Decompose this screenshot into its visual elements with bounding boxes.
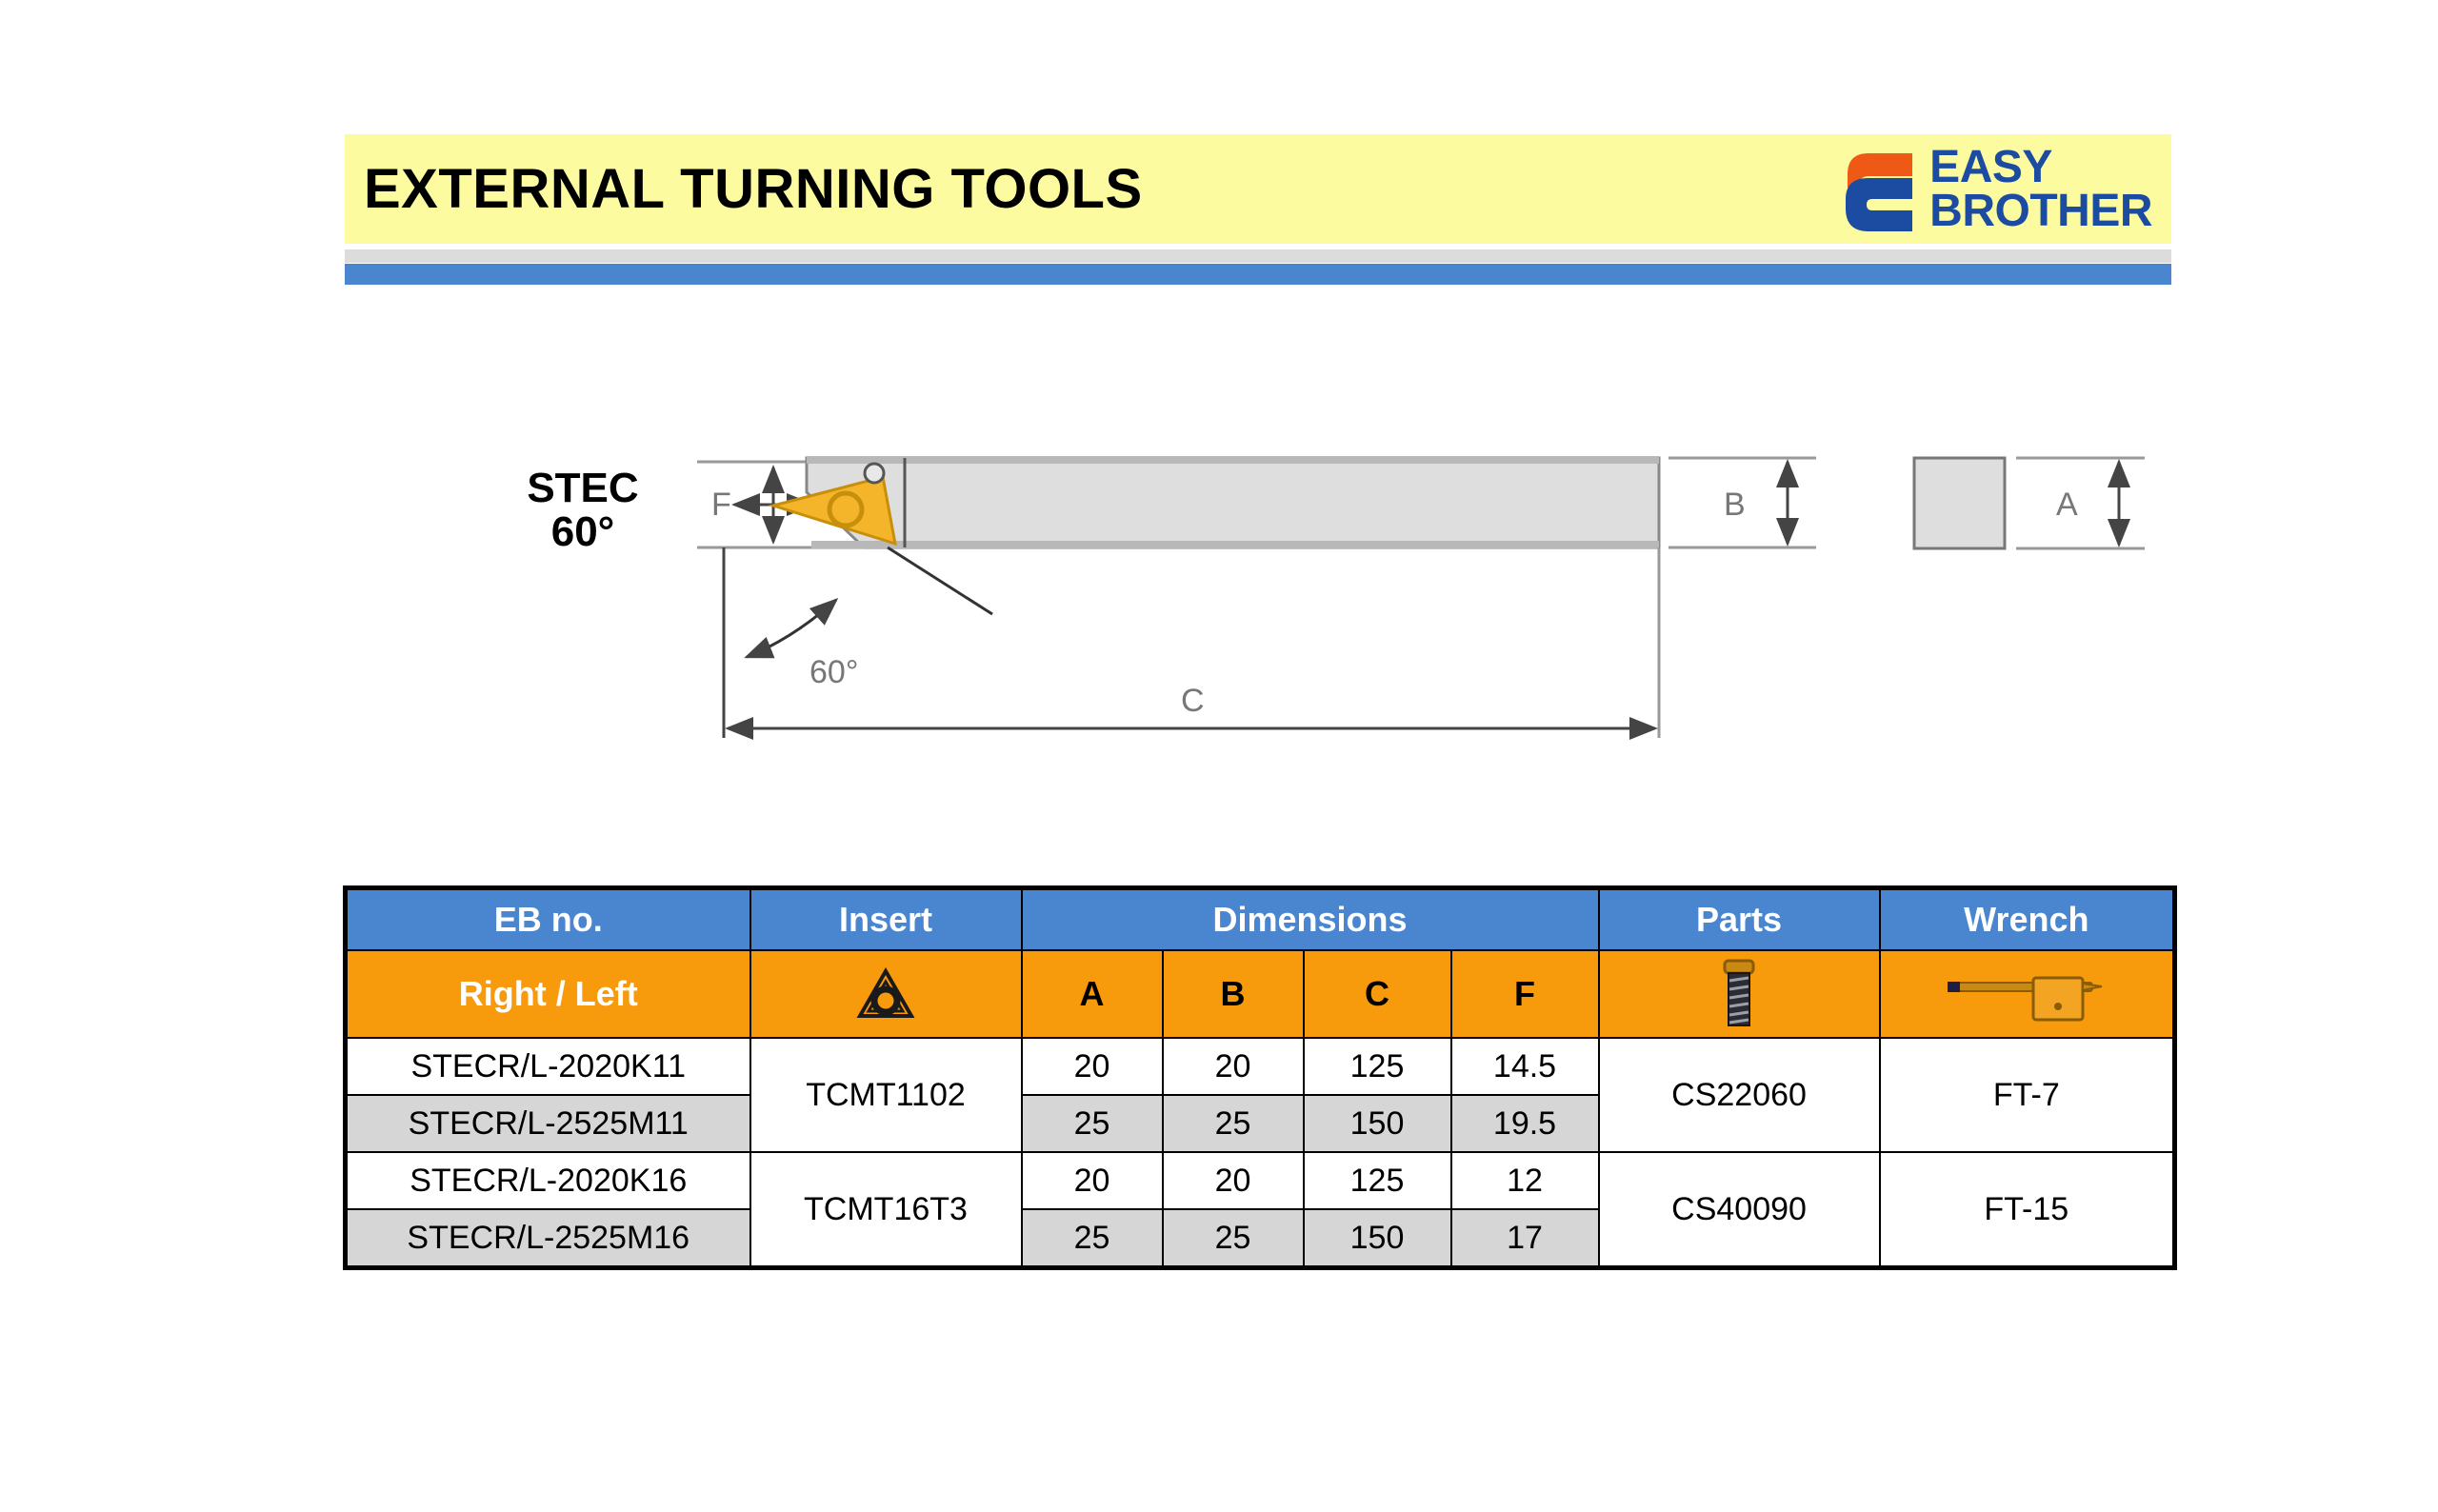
cell-insert: TCMT1102 — [750, 1038, 1022, 1152]
cell-dim-f: 19.5 — [1451, 1095, 1599, 1152]
cell-dim-f: 12 — [1451, 1152, 1599, 1209]
page-title: EXTERNAL TURNING TOOLS — [364, 157, 1143, 221]
header-rule-blue — [345, 264, 2171, 285]
cell-dim-c: 125 — [1304, 1152, 1451, 1209]
cell-eb-no: STECR/L-2525M16 — [346, 1209, 750, 1268]
cell-dim-f: 17 — [1451, 1209, 1599, 1268]
cell-part: CS22060 — [1599, 1038, 1880, 1152]
subheader-dim-a: A — [1022, 950, 1163, 1038]
cell-dim-c: 150 — [1304, 1095, 1451, 1152]
cell-dim-b: 25 — [1163, 1095, 1304, 1152]
tool-technical-drawing: F 60° C B A — [659, 433, 2173, 766]
subheader-parts-icon-cell — [1599, 950, 1880, 1038]
logo-wordmark: EASY BROTHER — [1929, 146, 2152, 231]
tool-diagram: STEC 60° F 60° — [345, 433, 2173, 766]
cell-eb-no: STECR/L-2525M11 — [346, 1095, 750, 1152]
product-specification-table: EB no. Insert Dimensions Parts Wrench Ri… — [343, 885, 2177, 1270]
subheader-dim-f: F — [1451, 950, 1599, 1038]
header-insert: Insert — [750, 888, 1022, 951]
dim-label-f: F — [711, 487, 731, 523]
page-header-band: EXTERNAL TURNING TOOLS EASY BROTHER — [345, 134, 2171, 244]
cell-dim-b: 20 — [1163, 1038, 1304, 1095]
header-wrench: Wrench — [1880, 888, 2175, 951]
table-group-header-row: EB no. Insert Dimensions Parts Wrench — [346, 888, 2175, 951]
cell-dim-a: 20 — [1022, 1152, 1163, 1209]
cell-dim-c: 125 — [1304, 1038, 1451, 1095]
table-row: STECR/L-2020K11 TCMT1102 20 20 125 14.5 … — [346, 1038, 2175, 1095]
dim-label-a: A — [2056, 487, 2078, 523]
logo-line-easy: EASY — [1929, 146, 2152, 189]
subheader-dim-b: B — [1163, 950, 1304, 1038]
cell-wrench: FT-15 — [1880, 1152, 2175, 1268]
torx-wrench-icon — [1881, 965, 2173, 1024]
triangular-insert-icon — [751, 966, 1021, 1022]
header-eb-no: EB no. — [346, 888, 750, 951]
subheader-right-left: Right / Left — [346, 950, 750, 1038]
screw-icon — [1600, 957, 1879, 1031]
table-sub-header-row: Right / Left A B C F — [346, 950, 2175, 1038]
cell-dim-f: 14.5 — [1451, 1038, 1599, 1095]
cell-part: CS40090 — [1599, 1152, 1880, 1268]
cell-eb-no: STECR/L-2020K11 — [346, 1038, 750, 1095]
easy-brother-logo-mark — [1840, 146, 1920, 233]
cell-eb-no: STECR/L-2020K16 — [346, 1152, 750, 1209]
cell-insert: TCMT16T3 — [750, 1152, 1022, 1268]
dim-label-angle: 60° — [809, 654, 858, 690]
subheader-dim-c: C — [1304, 950, 1451, 1038]
cell-dim-b: 25 — [1163, 1209, 1304, 1268]
subheader-wrench-icon-cell — [1880, 950, 2175, 1038]
cell-dim-a: 25 — [1022, 1095, 1163, 1152]
cell-dim-a: 20 — [1022, 1038, 1163, 1095]
dim-label-b: B — [1724, 487, 1746, 523]
company-logo: EASY BROTHER — [1840, 146, 2156, 233]
table-row: STECR/L-2020K16 TCMT16T3 20 20 125 12 CS… — [346, 1152, 2175, 1209]
cell-wrench: FT-7 — [1880, 1038, 2175, 1152]
header-dimensions: Dimensions — [1022, 888, 1599, 951]
subheader-insert-icon-cell — [750, 950, 1022, 1038]
cell-dim-b: 20 — [1163, 1152, 1304, 1209]
header-parts: Parts — [1599, 888, 1880, 951]
dim-label-c: C — [1181, 683, 1205, 719]
cell-dim-c: 150 — [1304, 1209, 1451, 1268]
cell-dim-a: 25 — [1022, 1209, 1163, 1268]
header-rule-grey — [345, 249, 2171, 263]
logo-line-brother: BROTHER — [1929, 189, 2152, 232]
